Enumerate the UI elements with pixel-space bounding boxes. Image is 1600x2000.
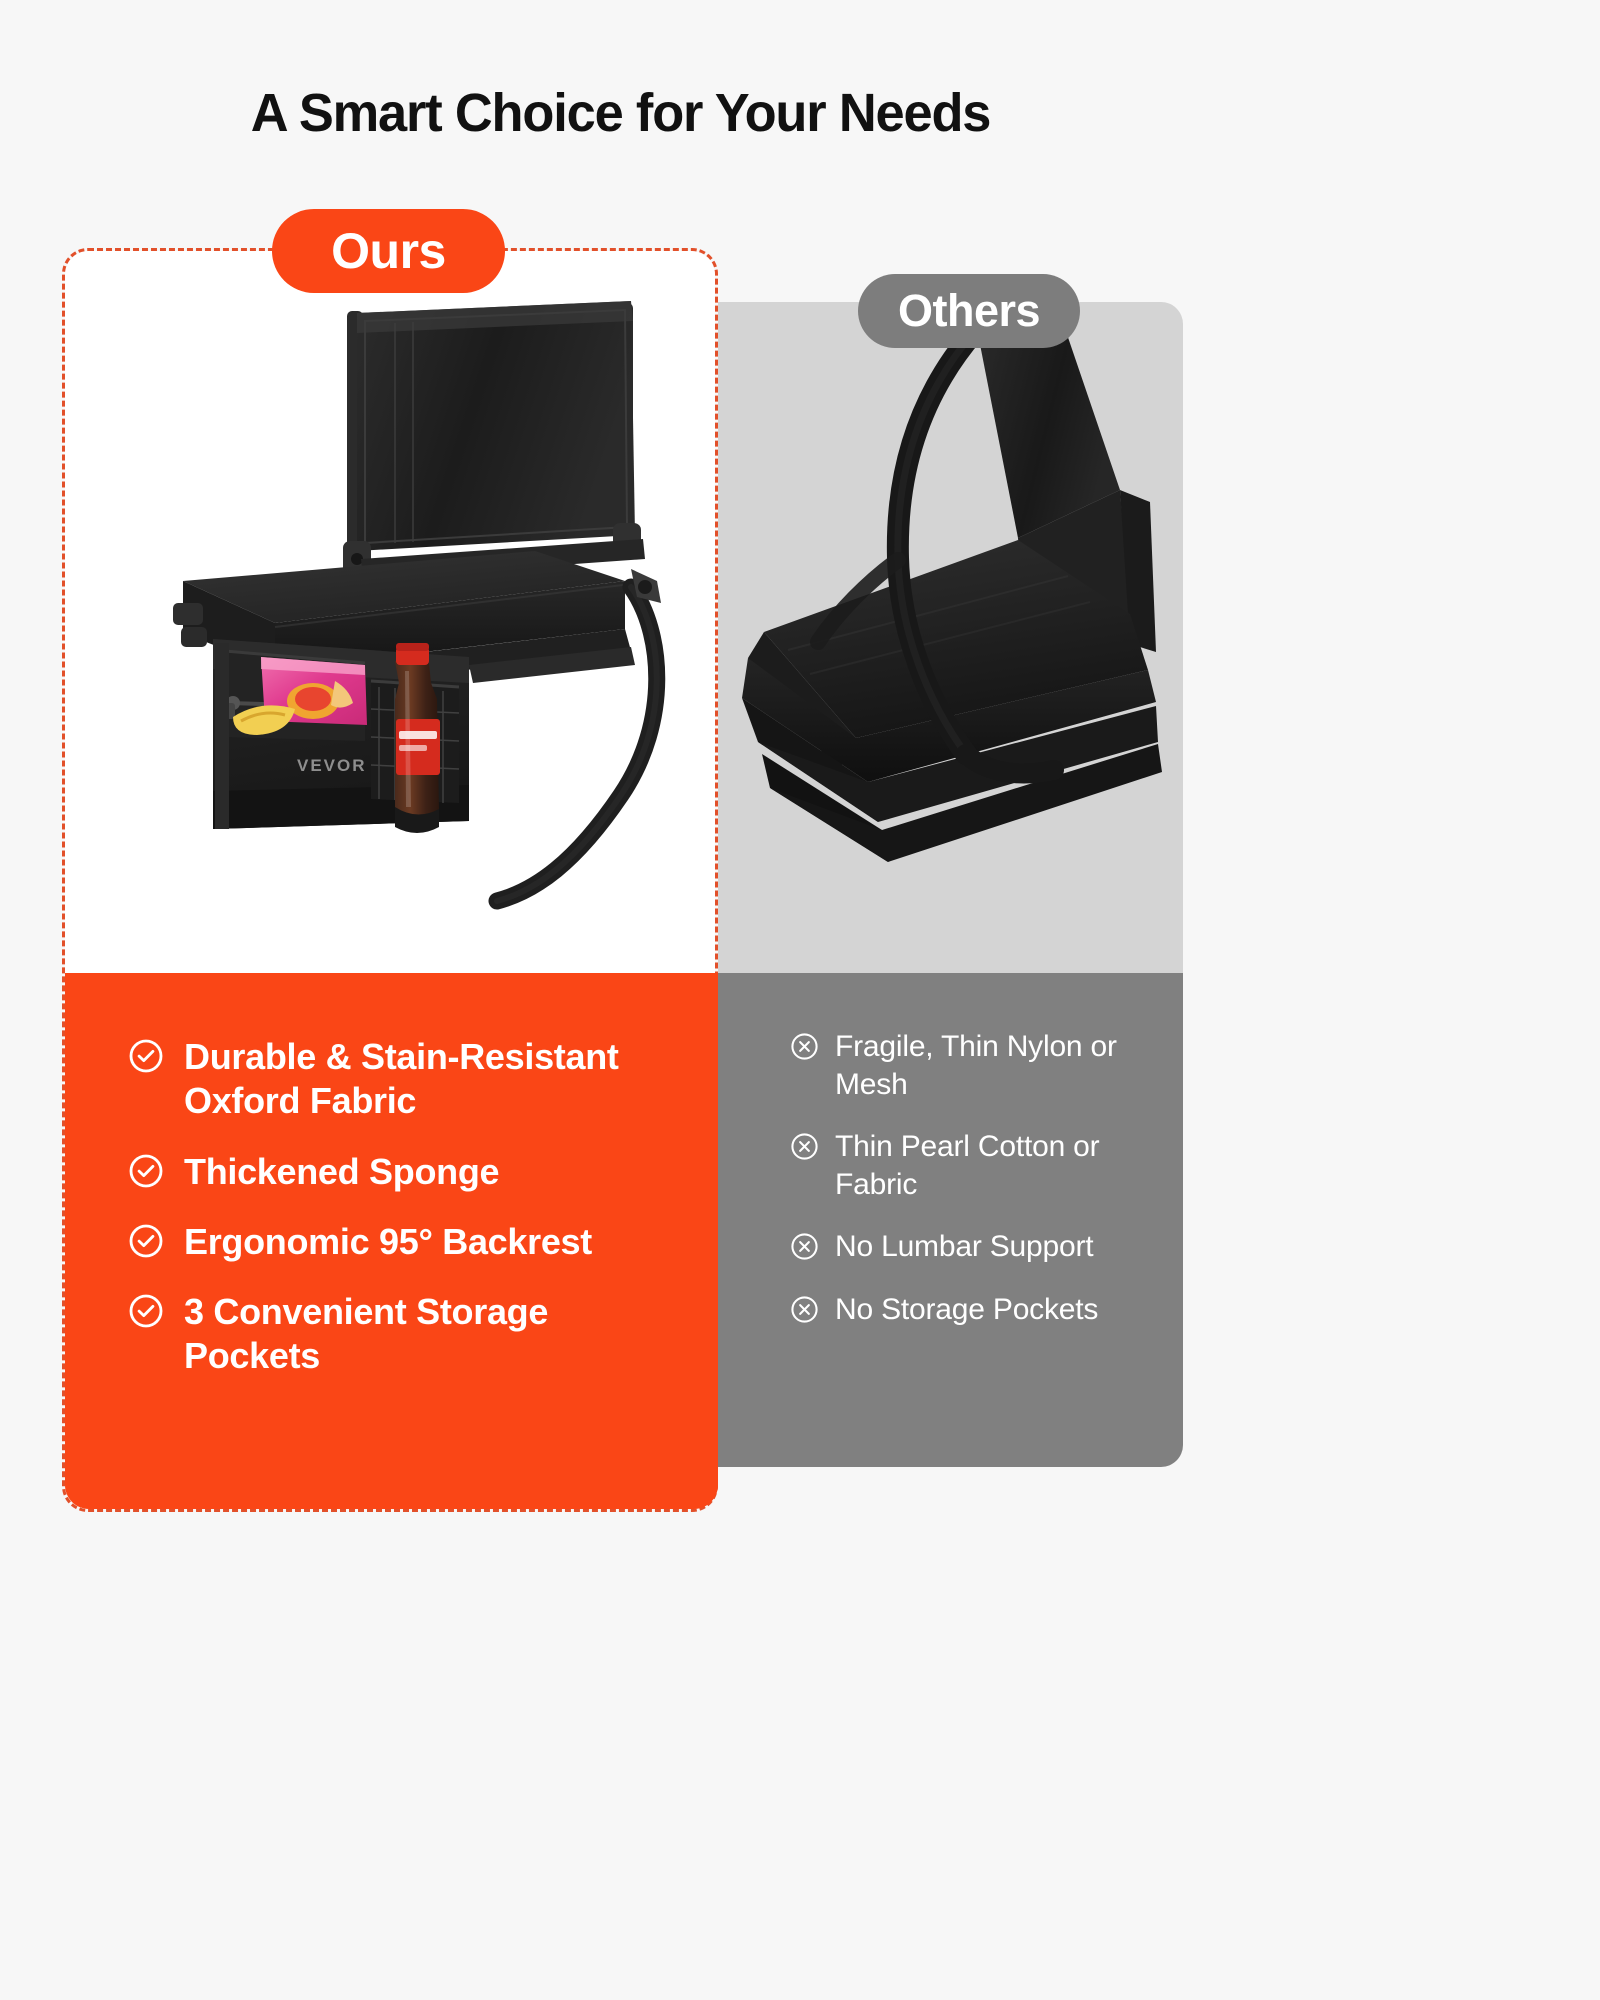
check-circle-icon <box>128 1293 164 1329</box>
list-item-label: Thin Pearl Cotton or Fabric <box>835 1128 1160 1203</box>
list-item: 3 Convenient Storage Pockets <box>128 1290 688 1379</box>
list-item-label: No Storage Pockets <box>835 1291 1098 1329</box>
page-title: A Smart Choice for Your Needs <box>19 82 1223 144</box>
badge-ours: Ours <box>272 209 505 293</box>
x-circle-icon <box>790 1295 819 1324</box>
list-item: Fragile, Thin Nylon or Mesh <box>790 1028 1160 1103</box>
list-item-label: Ergonomic 95° Backrest <box>184 1220 592 1264</box>
list-item: Ergonomic 95° Backrest <box>128 1220 688 1264</box>
list-item: Thickened Sponge <box>128 1150 688 1194</box>
x-circle-icon <box>790 1132 819 1161</box>
badge-others: Others <box>858 274 1080 348</box>
others-product-photo <box>718 302 1183 973</box>
x-circle-icon <box>790 1032 819 1061</box>
check-circle-icon <box>128 1038 164 1074</box>
check-circle-icon <box>128 1223 164 1259</box>
badge-others-label: Others <box>898 285 1040 337</box>
list-item: Durable & Stain-Resistant Oxford Fabric <box>128 1035 688 1124</box>
check-circle-icon <box>128 1153 164 1189</box>
list-item-label: No Lumbar Support <box>835 1228 1093 1266</box>
badge-ours-label: Ours <box>331 222 446 280</box>
ours-feature-list: Durable & Stain-Resistant Oxford Fabric … <box>128 1035 688 1405</box>
stadium-seat-others-illustration <box>718 302 1183 973</box>
list-item-label: 3 Convenient Storage Pockets <box>184 1290 688 1379</box>
list-item-label: Thickened Sponge <box>184 1150 499 1194</box>
others-feature-list: Fragile, Thin Nylon or Mesh Thin Pearl C… <box>790 1028 1160 1353</box>
list-item-label: Durable & Stain-Resistant Oxford Fabric <box>184 1035 688 1124</box>
list-item: No Lumbar Support <box>790 1228 1160 1266</box>
list-item-label: Fragile, Thin Nylon or Mesh <box>835 1028 1160 1103</box>
list-item: No Storage Pockets <box>790 1291 1160 1329</box>
list-item: Thin Pearl Cotton or Fabric <box>790 1128 1160 1203</box>
x-circle-icon <box>790 1232 819 1261</box>
comparison-infographic: A Smart Choice for Your Needs <box>0 0 1241 1550</box>
